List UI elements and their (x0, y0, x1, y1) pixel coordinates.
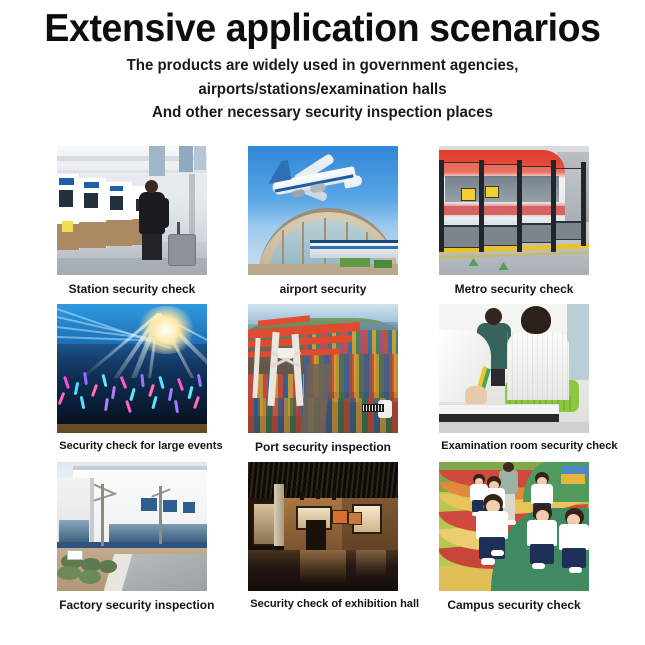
scenario-caption: Station security check (59, 282, 205, 296)
scenario-caption: Security check for large events (59, 440, 205, 452)
page-title: Extensive application scenarios (13, 8, 632, 50)
airport-security-photo (248, 146, 398, 275)
scenario-caption: Security check of exhibition hall (250, 598, 396, 610)
scenario-cell-exhibition-hall[interactable]: Security check of exhibition hall (248, 462, 398, 612)
gallery-row: Station security check airport security (0, 146, 645, 296)
port-security-inspection-photo (248, 304, 398, 433)
scenario-caption: Campus security check (441, 598, 587, 612)
scenario-gallery-grid: Station security check airport security (0, 146, 645, 620)
gallery-row: Security check for large events Port sec… (0, 304, 645, 454)
gallery-row: Factory security inspection Security che… (0, 462, 645, 612)
scenario-cell-station[interactable]: Station security check (57, 146, 207, 296)
metro-security-check-photo (439, 146, 589, 275)
scenario-caption: Metro security check (441, 282, 587, 296)
application-scenarios-page: Extensive application scenarios The prod… (0, 0, 645, 645)
large-events-security-photo (57, 304, 207, 433)
examination-room-security-photo (439, 304, 589, 433)
scenario-caption: Factory security inspection (59, 598, 205, 612)
subtitle-line-2: airports/stations/examination halls (10, 78, 636, 102)
scenario-cell-campus[interactable]: Campus security check (439, 462, 589, 612)
factory-security-inspection-photo (57, 462, 207, 591)
scenario-cell-large-events[interactable]: Security check for large events (57, 304, 207, 454)
station-security-check-photo (57, 146, 207, 275)
scenario-cell-factory[interactable]: Factory security inspection (57, 462, 207, 612)
scenario-caption: Port security inspection (250, 440, 396, 454)
scenario-cell-airport[interactable]: airport security (248, 146, 398, 296)
campus-security-check-photo (439, 462, 589, 591)
scenario-caption: airport security (250, 282, 396, 296)
scenario-cell-port[interactable]: Port security inspection (248, 304, 398, 454)
scenario-cell-metro[interactable]: Metro security check (439, 146, 589, 296)
subtitle-line-1: The products are widely used in governme… (10, 54, 636, 78)
exhibition-hall-security-photo (248, 462, 398, 591)
page-header: Extensive application scenarios The prod… (0, 0, 645, 125)
scenario-cell-examination-room[interactable]: Examination room security check (439, 304, 589, 454)
subtitle-line-3: And other necessary security inspection … (10, 101, 636, 125)
scenario-caption: Examination room security check (441, 440, 587, 452)
